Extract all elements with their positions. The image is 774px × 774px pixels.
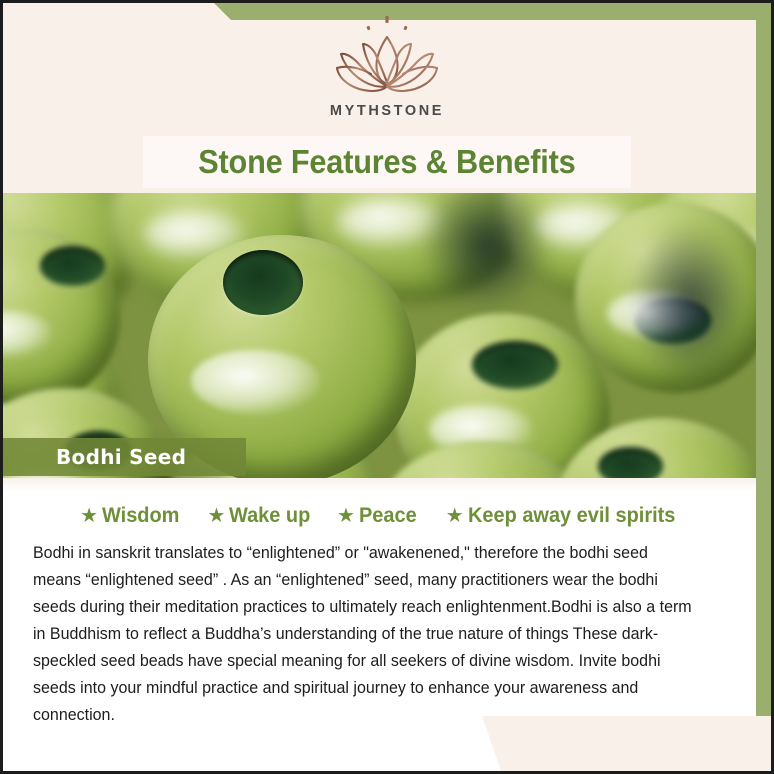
benefit-label: Wake up xyxy=(229,504,310,528)
star-icon: ★ xyxy=(337,506,355,526)
page-title: Stone Features & Benefits xyxy=(198,143,575,181)
benefit-item-wisdom: ★ Wisdom xyxy=(80,504,183,528)
star-icon: ★ xyxy=(208,506,226,526)
photo-shadow xyxy=(420,193,550,313)
description-text: Bodhi in sanskrit translates to “enlight… xyxy=(33,539,699,728)
star-icon: ★ xyxy=(446,506,464,526)
brand-name: MYTHSTONE xyxy=(0,103,774,119)
product-photo xyxy=(0,193,756,478)
lotus-flower-icon xyxy=(327,16,447,102)
poster: MYTHSTONE Stone Features & Benefits xyxy=(0,0,774,774)
benefit-item-wake-up: ★ Wake up xyxy=(208,504,316,528)
benefit-label: Keep away evil spirits xyxy=(468,504,675,528)
photo-shadow xyxy=(630,223,750,383)
benefits-list: ★ Wisdom ★ Wake up ★ Peace ★ Keep away e… xyxy=(0,504,756,528)
lotus-sparkles-icon xyxy=(366,16,407,30)
bead-hole xyxy=(40,246,105,286)
benefit-item-peace: ★ Peace xyxy=(337,504,420,528)
bead-hole xyxy=(472,341,558,389)
photo-caption-label: Bodhi Seed xyxy=(56,445,186,469)
bead-hole xyxy=(598,447,663,478)
benefit-label: Wisdom xyxy=(102,504,179,528)
benefit-label: Peace xyxy=(359,504,417,528)
bead-hole xyxy=(223,250,303,315)
benefit-item-keep-away-evil-spirits: ★ Keep away evil spirits xyxy=(446,504,686,528)
photo-caption-ribbon: Bodhi Seed xyxy=(0,438,246,476)
star-icon: ★ xyxy=(80,506,98,526)
brand-logo: MYTHSTONE xyxy=(0,16,774,119)
page-title-bar: Stone Features & Benefits xyxy=(143,136,631,188)
